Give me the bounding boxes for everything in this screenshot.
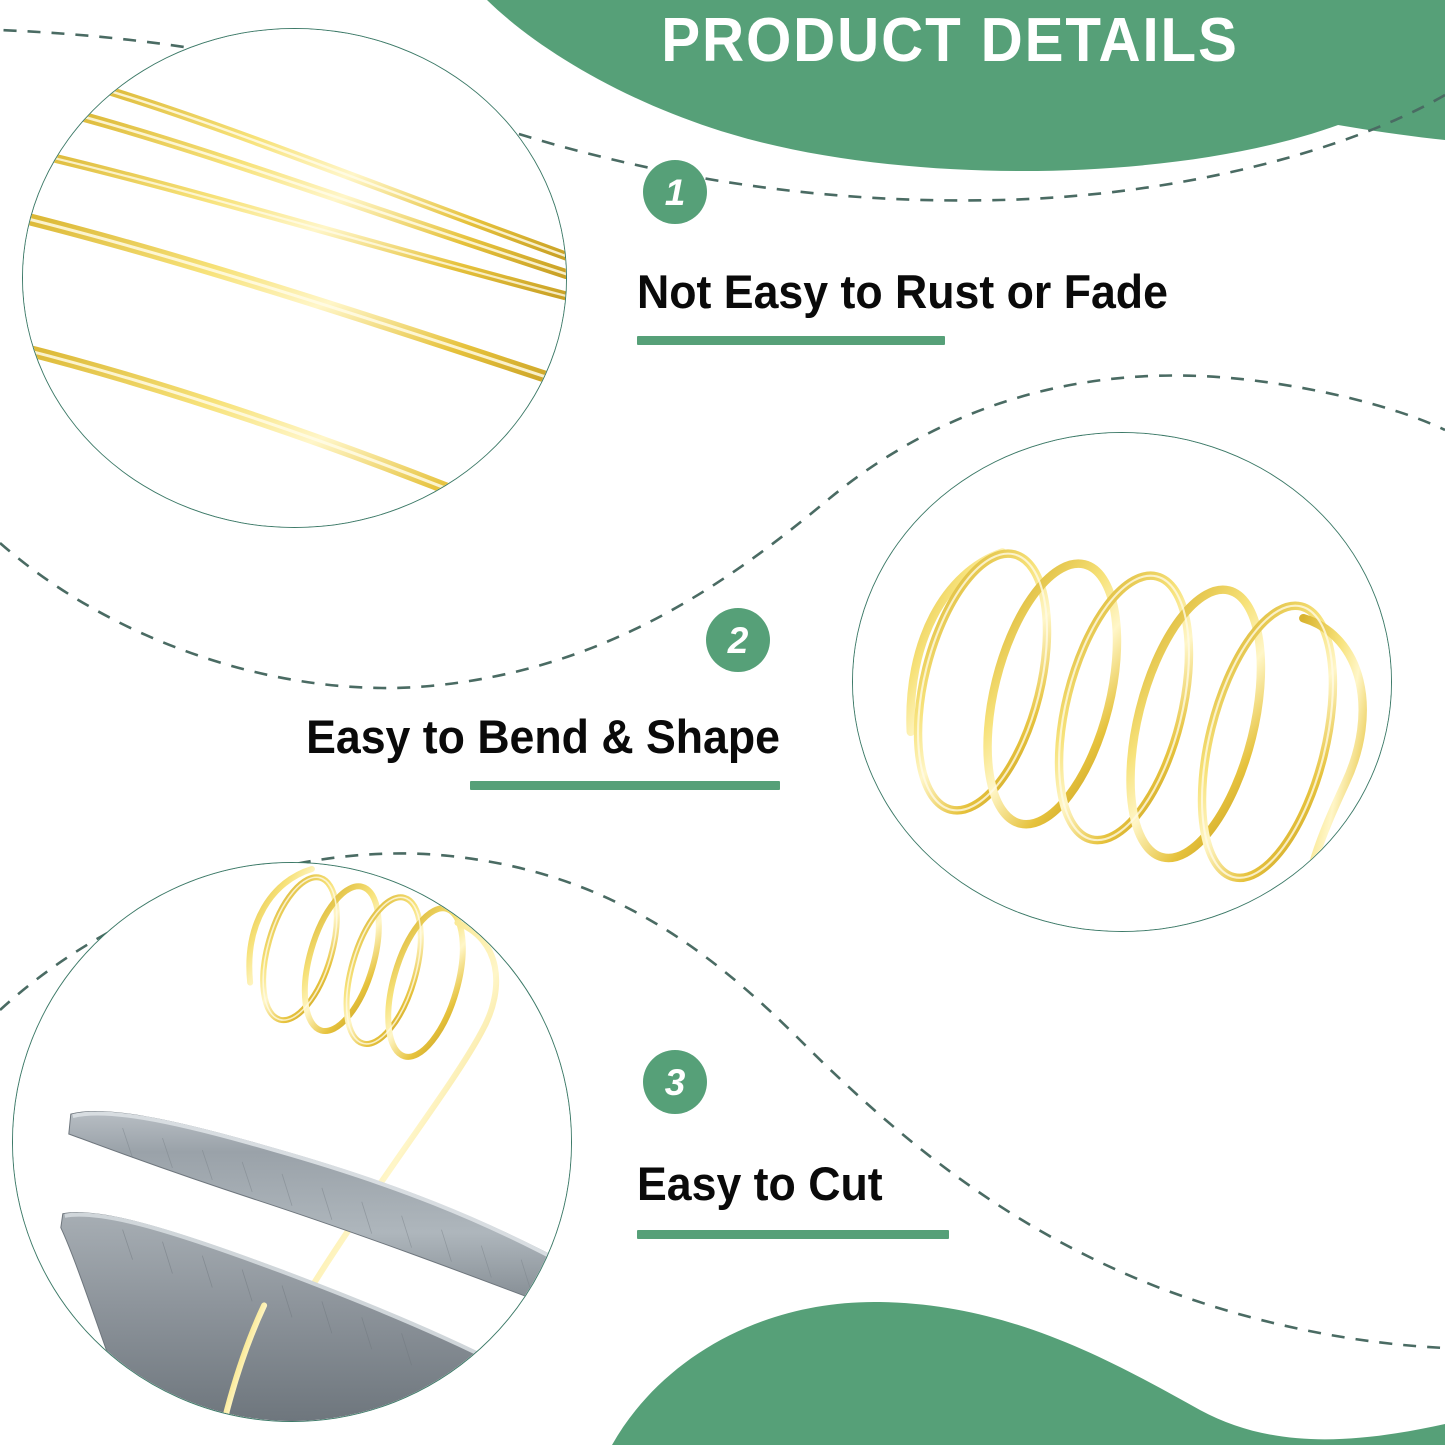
- infographic-page: PRODUCT DETAILS: [0, 0, 1445, 1445]
- scissors-cutting-wire-illustration: [13, 863, 571, 1421]
- feature-title-3: Easy to Cut: [637, 1159, 933, 1208]
- feature-underline-1: [637, 336, 945, 345]
- photo-gold-wire-strands: [22, 28, 567, 528]
- feature-badge-1: 1: [643, 160, 707, 224]
- feature-underline-3: [637, 1230, 949, 1239]
- feature-underline-2: [470, 781, 780, 790]
- page-title: PRODUCT DETAILS: [621, 10, 1279, 72]
- feature-block-2: 2 Easy to Bend & Shape: [250, 608, 780, 790]
- photo-gold-wire-coil: [852, 432, 1392, 932]
- feature-block-1: 1 Not Easy to Rust or Fade: [637, 160, 1196, 345]
- photo-scissors-cutting-wire: [12, 862, 572, 1422]
- gold-wire-strands-illustration: [23, 29, 566, 527]
- feature-block-3: 3 Easy to Cut: [637, 1050, 949, 1239]
- bottom-wave-shape: [612, 1302, 1445, 1445]
- feature-badge-3: 3: [643, 1050, 707, 1114]
- feature-badge-2: 2: [706, 608, 770, 672]
- feature-title-1: Not Easy to Rust or Fade: [637, 267, 1168, 316]
- gold-wire-coil-illustration: [853, 433, 1391, 931]
- feature-title-2: Easy to Bend & Shape: [277, 712, 781, 761]
